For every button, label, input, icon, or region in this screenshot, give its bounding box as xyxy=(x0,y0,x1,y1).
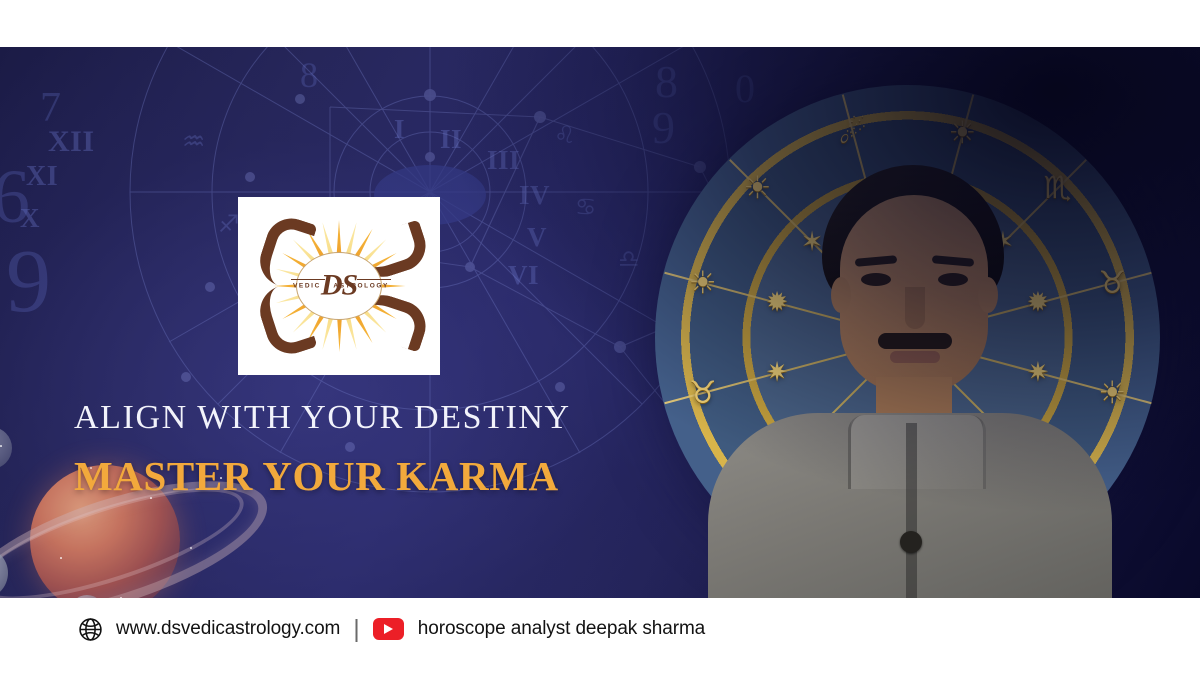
bg-number-8: 8 xyxy=(655,59,678,105)
sun-logo-mark: DS VEDIC ASTROLOGY xyxy=(255,213,423,359)
portrait-eye-left xyxy=(861,273,891,286)
sparkle-star xyxy=(60,557,62,559)
bg-roman-xi: XI xyxy=(26,163,58,191)
globe-icon xyxy=(78,617,103,642)
logo-word-vedic: VEDIC xyxy=(293,283,321,290)
bg-number-8b: 8 xyxy=(300,57,318,93)
bg-roman-i: I xyxy=(394,116,405,143)
bg-number-7: 7 xyxy=(40,87,61,129)
logo-center-disc: DS VEDIC ASTROLOGY xyxy=(296,252,382,320)
headline-line-2: MASTER YOUR KARMA xyxy=(74,452,634,500)
portrait-placket xyxy=(906,423,917,598)
youtube-icon[interactable] xyxy=(373,618,404,640)
bg-number-6: 6 xyxy=(0,159,30,235)
portrait-ear-left xyxy=(831,277,851,313)
moon-lower-left xyxy=(0,547,8,598)
headline-block: ALIGN WITH YOUR DESTINY MASTER YOUR KARM… xyxy=(74,399,634,500)
portrait-ear-right xyxy=(978,277,998,313)
website-url[interactable]: www.dsvedicastrology.com xyxy=(116,618,340,640)
footer-bar: www.dsvedicastrology.com | horoscope ana… xyxy=(0,598,1200,675)
bg-number-9b: 9 xyxy=(652,105,675,151)
brand-logo-box[interactable]: DS VEDIC ASTROLOGY xyxy=(238,197,440,375)
sparkle-star xyxy=(0,445,2,447)
bg-number-0: 0 xyxy=(735,69,755,109)
bg-glyph-aries: ♐ xyxy=(218,212,240,236)
portrait-mouth xyxy=(890,351,940,363)
bg-glyph-cancer: ♋ xyxy=(575,195,597,219)
bg-glyph-aquarius: ♒ xyxy=(182,129,205,155)
footer-divider: | xyxy=(353,617,360,642)
portrait-button xyxy=(900,531,922,553)
astrology-banner: XII XI X I II III IV V VI 7 6 9 8 9 0 8 … xyxy=(0,0,1200,675)
zodiac-symbol: ☀ xyxy=(939,110,985,156)
bg-glyph-gemini: ♌ xyxy=(554,123,576,147)
bg-roman-xii: XII xyxy=(48,127,95,157)
portrait-nose xyxy=(905,287,925,329)
moon-upper xyxy=(0,427,12,469)
bg-roman-vi: VI xyxy=(508,262,539,289)
zodiac-symbol: ☄ xyxy=(830,110,876,156)
bg-number-9: 9 xyxy=(6,237,51,327)
banner-artwork: XII XI X I II III IV V VI 7 6 9 8 9 0 8 … xyxy=(0,47,1200,598)
bg-roman-x: X xyxy=(20,205,40,232)
bg-roman-v: V xyxy=(527,224,547,251)
portrait-collar xyxy=(848,415,986,489)
bg-roman-ii: II xyxy=(440,126,462,153)
portrait-eye-right xyxy=(938,273,968,286)
headline-line-1: ALIGN WITH YOUR DESTINY xyxy=(74,399,634,437)
sparkle-star xyxy=(190,547,192,549)
bg-glyph-leo: ♎ xyxy=(618,247,640,271)
logo-rule-left xyxy=(291,279,325,280)
bg-roman-iv: IV xyxy=(519,182,550,209)
astrologer-portrait xyxy=(700,165,1120,598)
logo-word-astrology: ASTROLOGY xyxy=(333,283,389,290)
logo-rule-right xyxy=(357,279,391,280)
contact-row: www.dsvedicastrology.com | horoscope ana… xyxy=(78,609,705,649)
bg-roman-iii: III xyxy=(487,147,520,174)
youtube-channel-name[interactable]: horoscope analyst deepak sharma xyxy=(418,618,705,640)
portrait-moustache xyxy=(878,333,952,349)
